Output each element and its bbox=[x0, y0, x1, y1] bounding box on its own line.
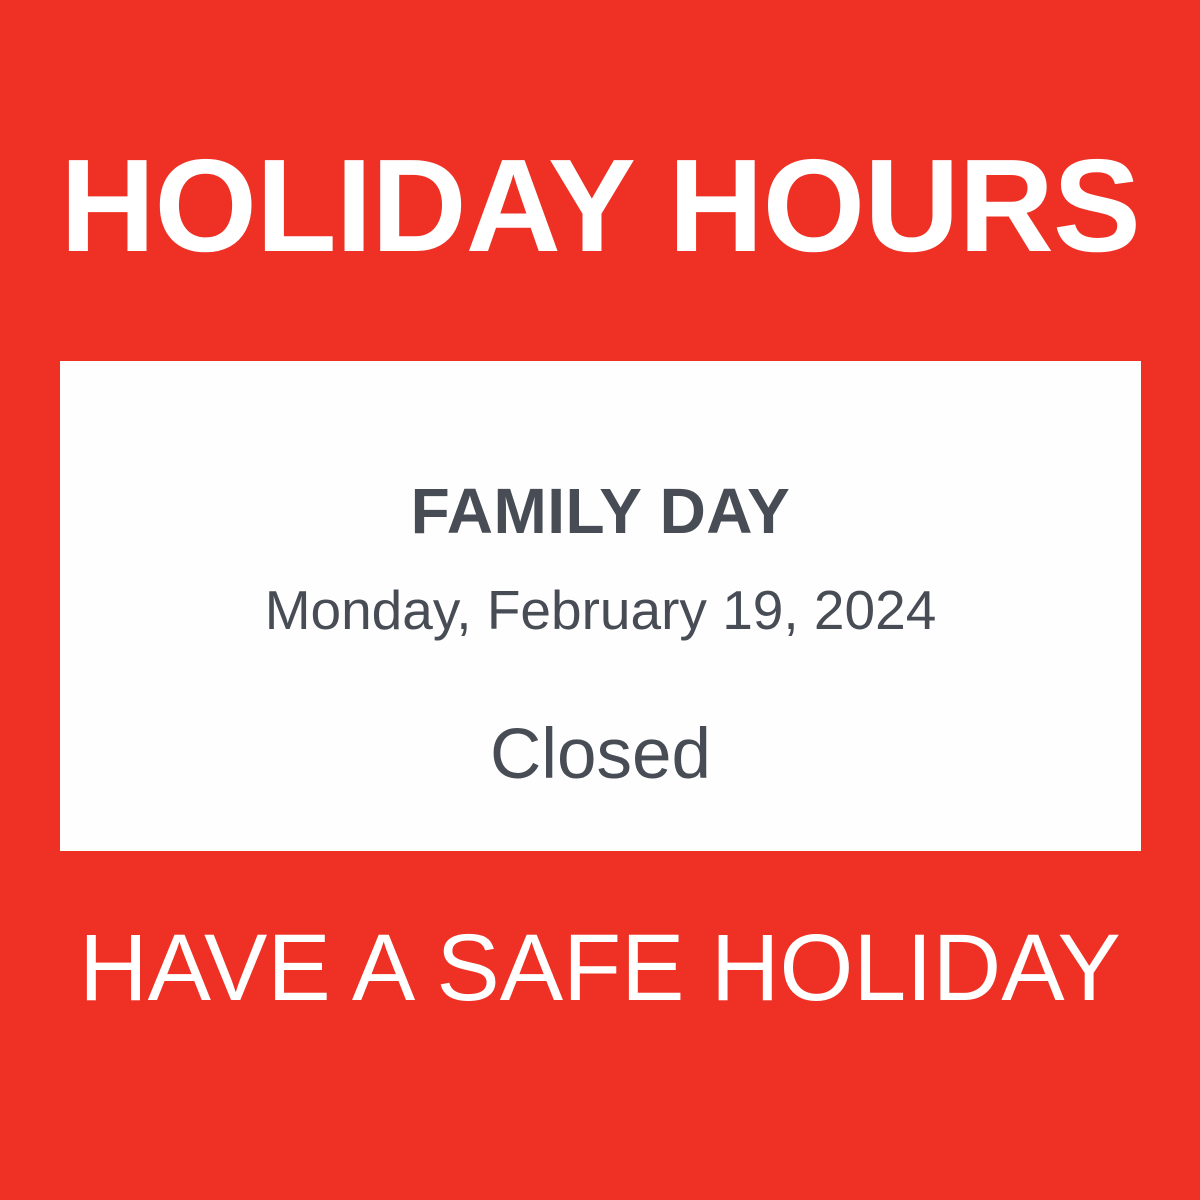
holiday-date: Monday, February 19, 2024 bbox=[60, 543, 1141, 638]
holiday-info-card-content: FAMILY DAY Monday, February 19, 2024 Clo… bbox=[60, 361, 1141, 790]
holiday-hours-sign: HOLIDAY HOURS FAMILY DAY Monday, Februar… bbox=[0, 0, 1200, 1200]
holiday-name: FAMILY DAY bbox=[60, 479, 1141, 543]
holiday-info-card: FAMILY DAY Monday, February 19, 2024 Clo… bbox=[60, 361, 1141, 851]
footer-message: HAVE A SAFE HOLIDAY bbox=[0, 900, 1200, 1030]
holiday-status: Closed bbox=[60, 638, 1141, 790]
page-title: HOLIDAY HOURS bbox=[0, 0, 1200, 290]
